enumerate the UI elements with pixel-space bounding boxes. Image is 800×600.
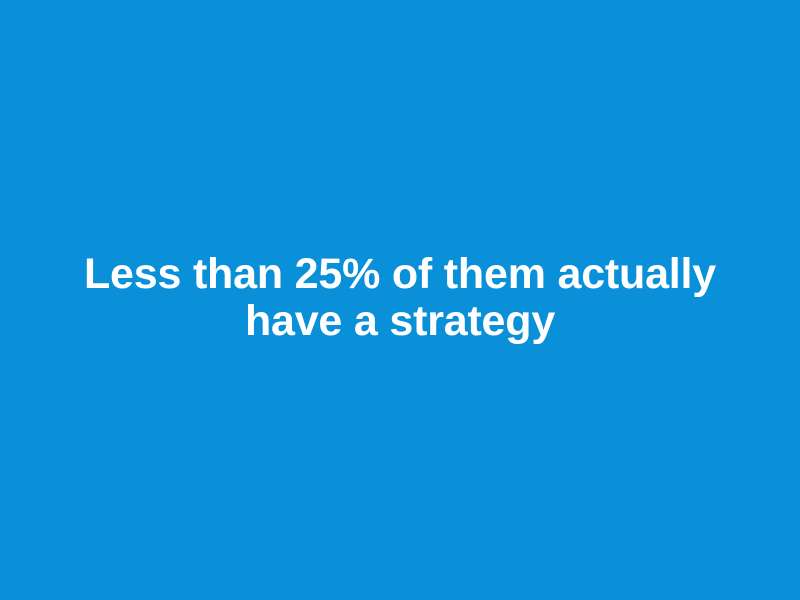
headline-line-1: Less than 25% of them actually [70,251,730,298]
headline-line-2: have a strategy [70,298,730,345]
headline-text-block: Less than 25% of them actually have a st… [70,251,730,345]
slide-canvas: Less than 25% of them actually have a st… [0,0,800,600]
